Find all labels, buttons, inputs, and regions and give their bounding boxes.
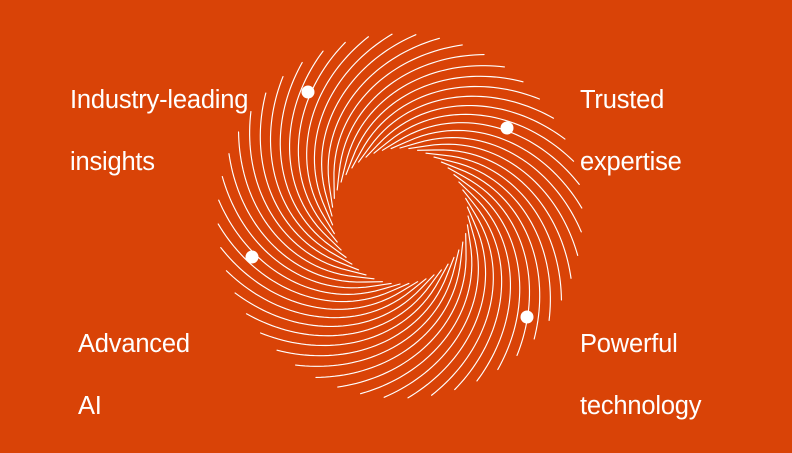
label-trusted-expertise-line1: Trusted bbox=[580, 85, 682, 116]
spiral-arm bbox=[328, 38, 439, 207]
label-advanced-ai: Advanced AI bbox=[78, 298, 190, 453]
dot-trusted-expertise bbox=[501, 122, 514, 135]
dot-powerful-technology bbox=[521, 311, 534, 324]
spiral-arm bbox=[459, 182, 511, 381]
spiral-arms-group bbox=[218, 34, 582, 398]
slide-canvas: Industry-leading insights Trusted expert… bbox=[0, 0, 792, 446]
label-industry-leading-line1: Industry-leading bbox=[70, 85, 248, 116]
spiral-arm bbox=[432, 198, 494, 395]
spiral-arm bbox=[382, 123, 579, 185]
spiral-arm bbox=[334, 45, 462, 198]
dot-industry-leading bbox=[302, 86, 315, 99]
spiral-arm bbox=[290, 51, 342, 250]
label-powerful-technology-line2: technology bbox=[580, 391, 701, 422]
spiral-arm bbox=[409, 144, 578, 255]
spiral-arm bbox=[366, 106, 565, 158]
label-advanced-ai-line1: Advanced bbox=[78, 329, 190, 360]
spiral-arm bbox=[307, 37, 369, 234]
spiral-arm bbox=[418, 150, 571, 278]
label-advanced-ai-line2: AI bbox=[78, 391, 190, 422]
label-industry-leading: Industry-leading insights bbox=[70, 54, 248, 209]
label-trusted-expertise-line2: expertise bbox=[580, 147, 682, 178]
spiral-arm bbox=[338, 234, 466, 387]
label-powerful-technology-line1: Powerful bbox=[580, 329, 701, 360]
dot-advanced-ai bbox=[246, 251, 259, 264]
label-trusted-expertise: Trusted expertise bbox=[580, 54, 682, 209]
label-industry-leading-line2: insights bbox=[70, 147, 248, 178]
spiral-arm bbox=[235, 275, 434, 327]
spiral-arm bbox=[361, 225, 472, 394]
label-powerful-technology: Powerful technology bbox=[580, 298, 701, 453]
